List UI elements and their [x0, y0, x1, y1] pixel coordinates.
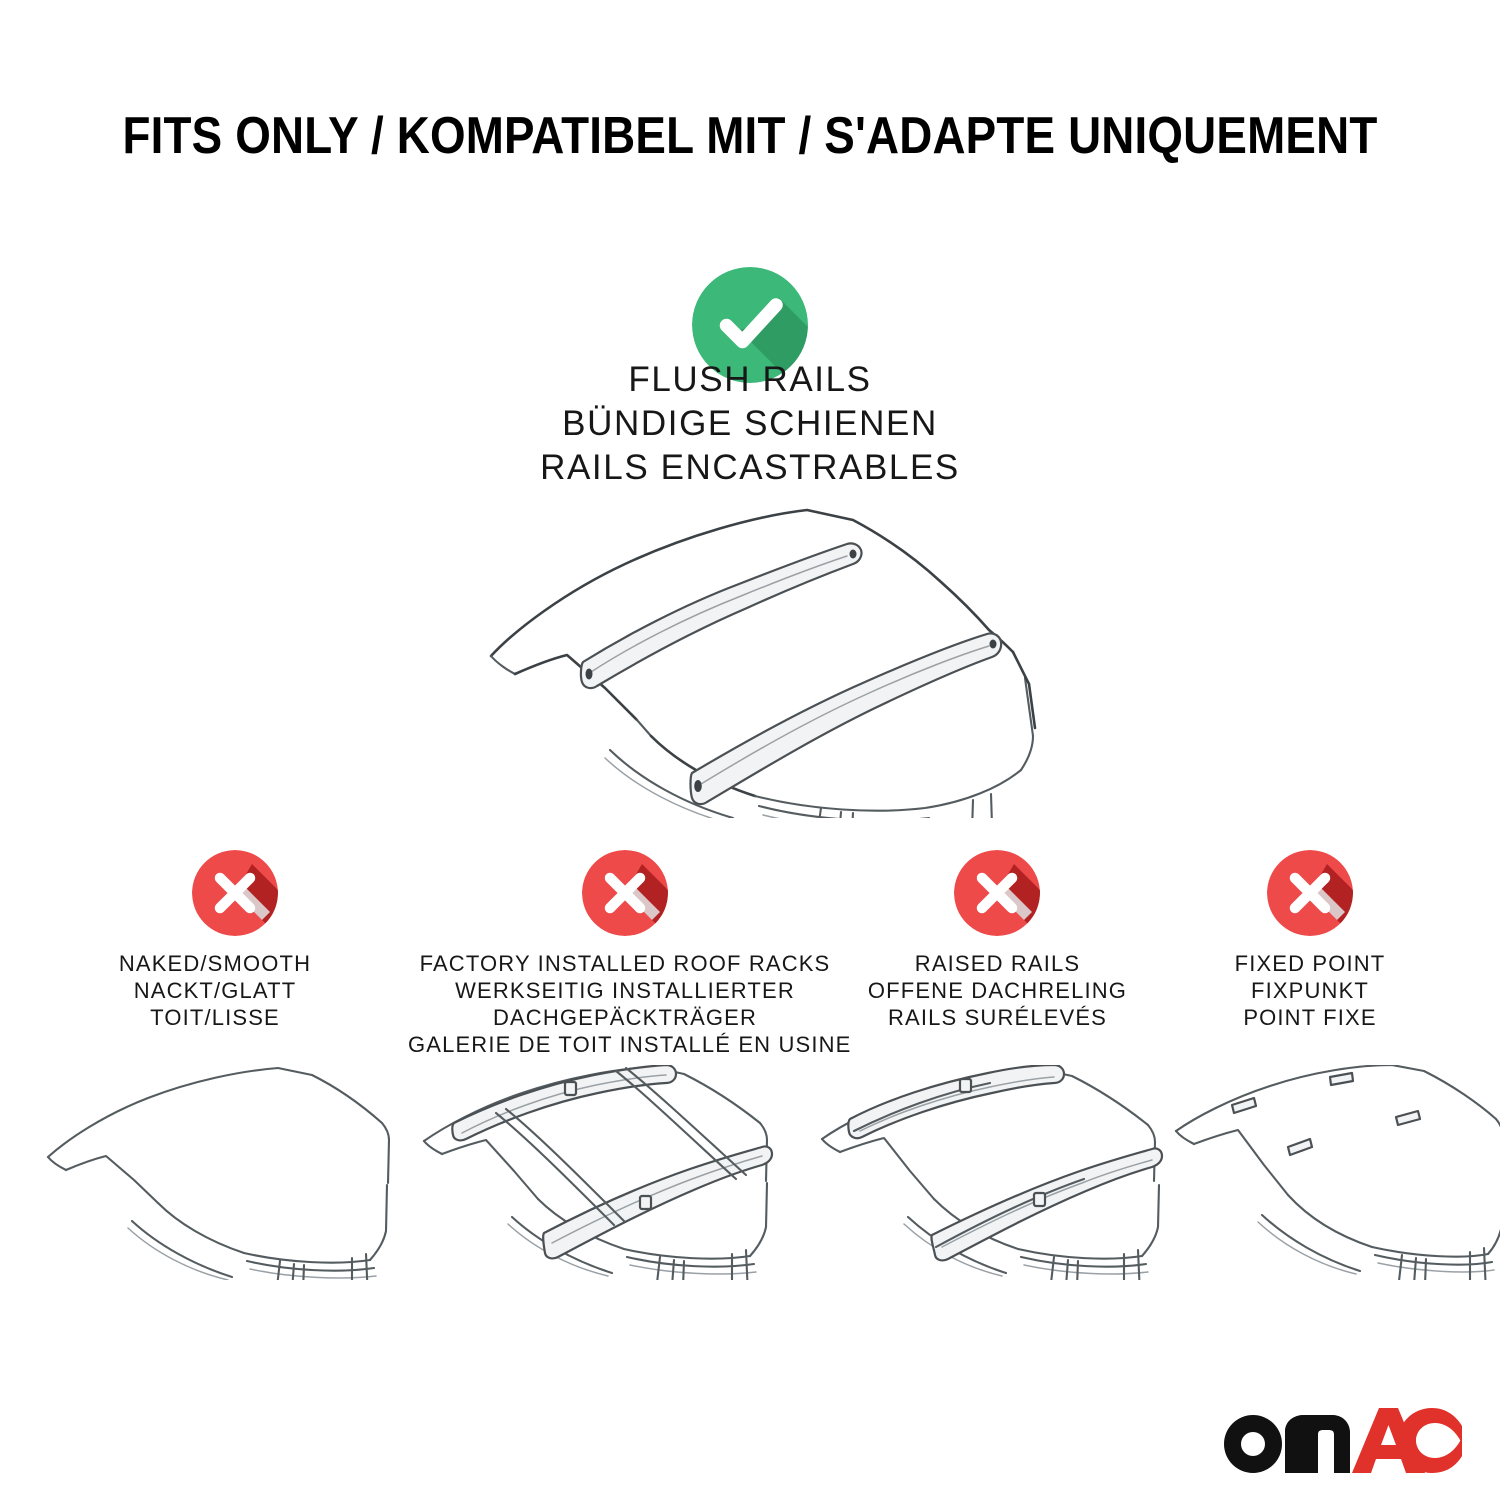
label-de: OFFENE DACHRELING [835, 977, 1160, 1004]
cross-circle-icon [1267, 850, 1353, 936]
car-roof-factory-racks-illustration [418, 1065, 778, 1280]
label-group: FIXED POINT FIXPUNKT POINT FIXE [1155, 950, 1465, 1031]
flush-rails-label-en: FLUSH RAILS [0, 358, 1500, 402]
label-de-1: WERKSEITIG INSTALLIERTER [408, 977, 842, 1004]
car-roof-naked-smooth-illustration [40, 1065, 390, 1280]
page-title: FITS ONLY / KOMPATIBEL MIT / S'ADAPTE UN… [90, 106, 1410, 166]
flush-rails-label-group: FLUSH RAILS BÜNDIGE SCHIENEN RAILS ENCAS… [0, 358, 1500, 490]
car-roof-flush-rails-illustration [455, 488, 1065, 818]
label-group: NAKED/SMOOTH NACKT/GLATT TOIT/LISSE [20, 950, 410, 1031]
label-fr: GALERIE DE TOIT INSTALLÉ EN USINE [408, 1031, 842, 1058]
flush-rails-label-de: BÜNDIGE SCHIENEN [0, 402, 1500, 446]
cross-circle-icon [582, 850, 668, 936]
label-de: FIXPUNKT [1155, 977, 1465, 1004]
compatibility-infographic: FITS ONLY / KOMPATIBEL MIT / S'ADAPTE UN… [0, 0, 1500, 1500]
label-en: NAKED/SMOOTH [20, 950, 410, 977]
label-fr: POINT FIXE [1155, 1004, 1465, 1031]
label-de-2: DACHGEPÄCKTRÄGER [408, 1004, 842, 1031]
car-roof-raised-rails-illustration [810, 1065, 1170, 1280]
label-fr: TOIT/LISSE [20, 1004, 410, 1031]
label-de: NACKT/GLATT [20, 977, 410, 1004]
cross-circle-icon [954, 850, 1040, 936]
label-group: RAISED RAILS OFFENE DACHRELING RAILS SUR… [835, 950, 1160, 1031]
label-fr: RAILS SURÉLEVÉS [835, 1004, 1160, 1031]
logo-letter-m [1285, 1415, 1350, 1473]
logo-letter-o [1224, 1415, 1282, 1473]
cross-circle-icon [192, 850, 278, 936]
label-en: RAISED RAILS [835, 950, 1160, 977]
label-en: FACTORY INSTALLED ROOF RACKS [408, 950, 842, 977]
omac-logo [1222, 1404, 1462, 1476]
label-group: FACTORY INSTALLED ROOF RACKS WERKSEITIG … [408, 950, 842, 1058]
label-en: FIXED POINT [1155, 950, 1465, 977]
car-roof-fixed-point-illustration [1170, 1065, 1500, 1280]
flush-rails-label-fr: RAILS ENCASTRABLES [0, 446, 1500, 490]
